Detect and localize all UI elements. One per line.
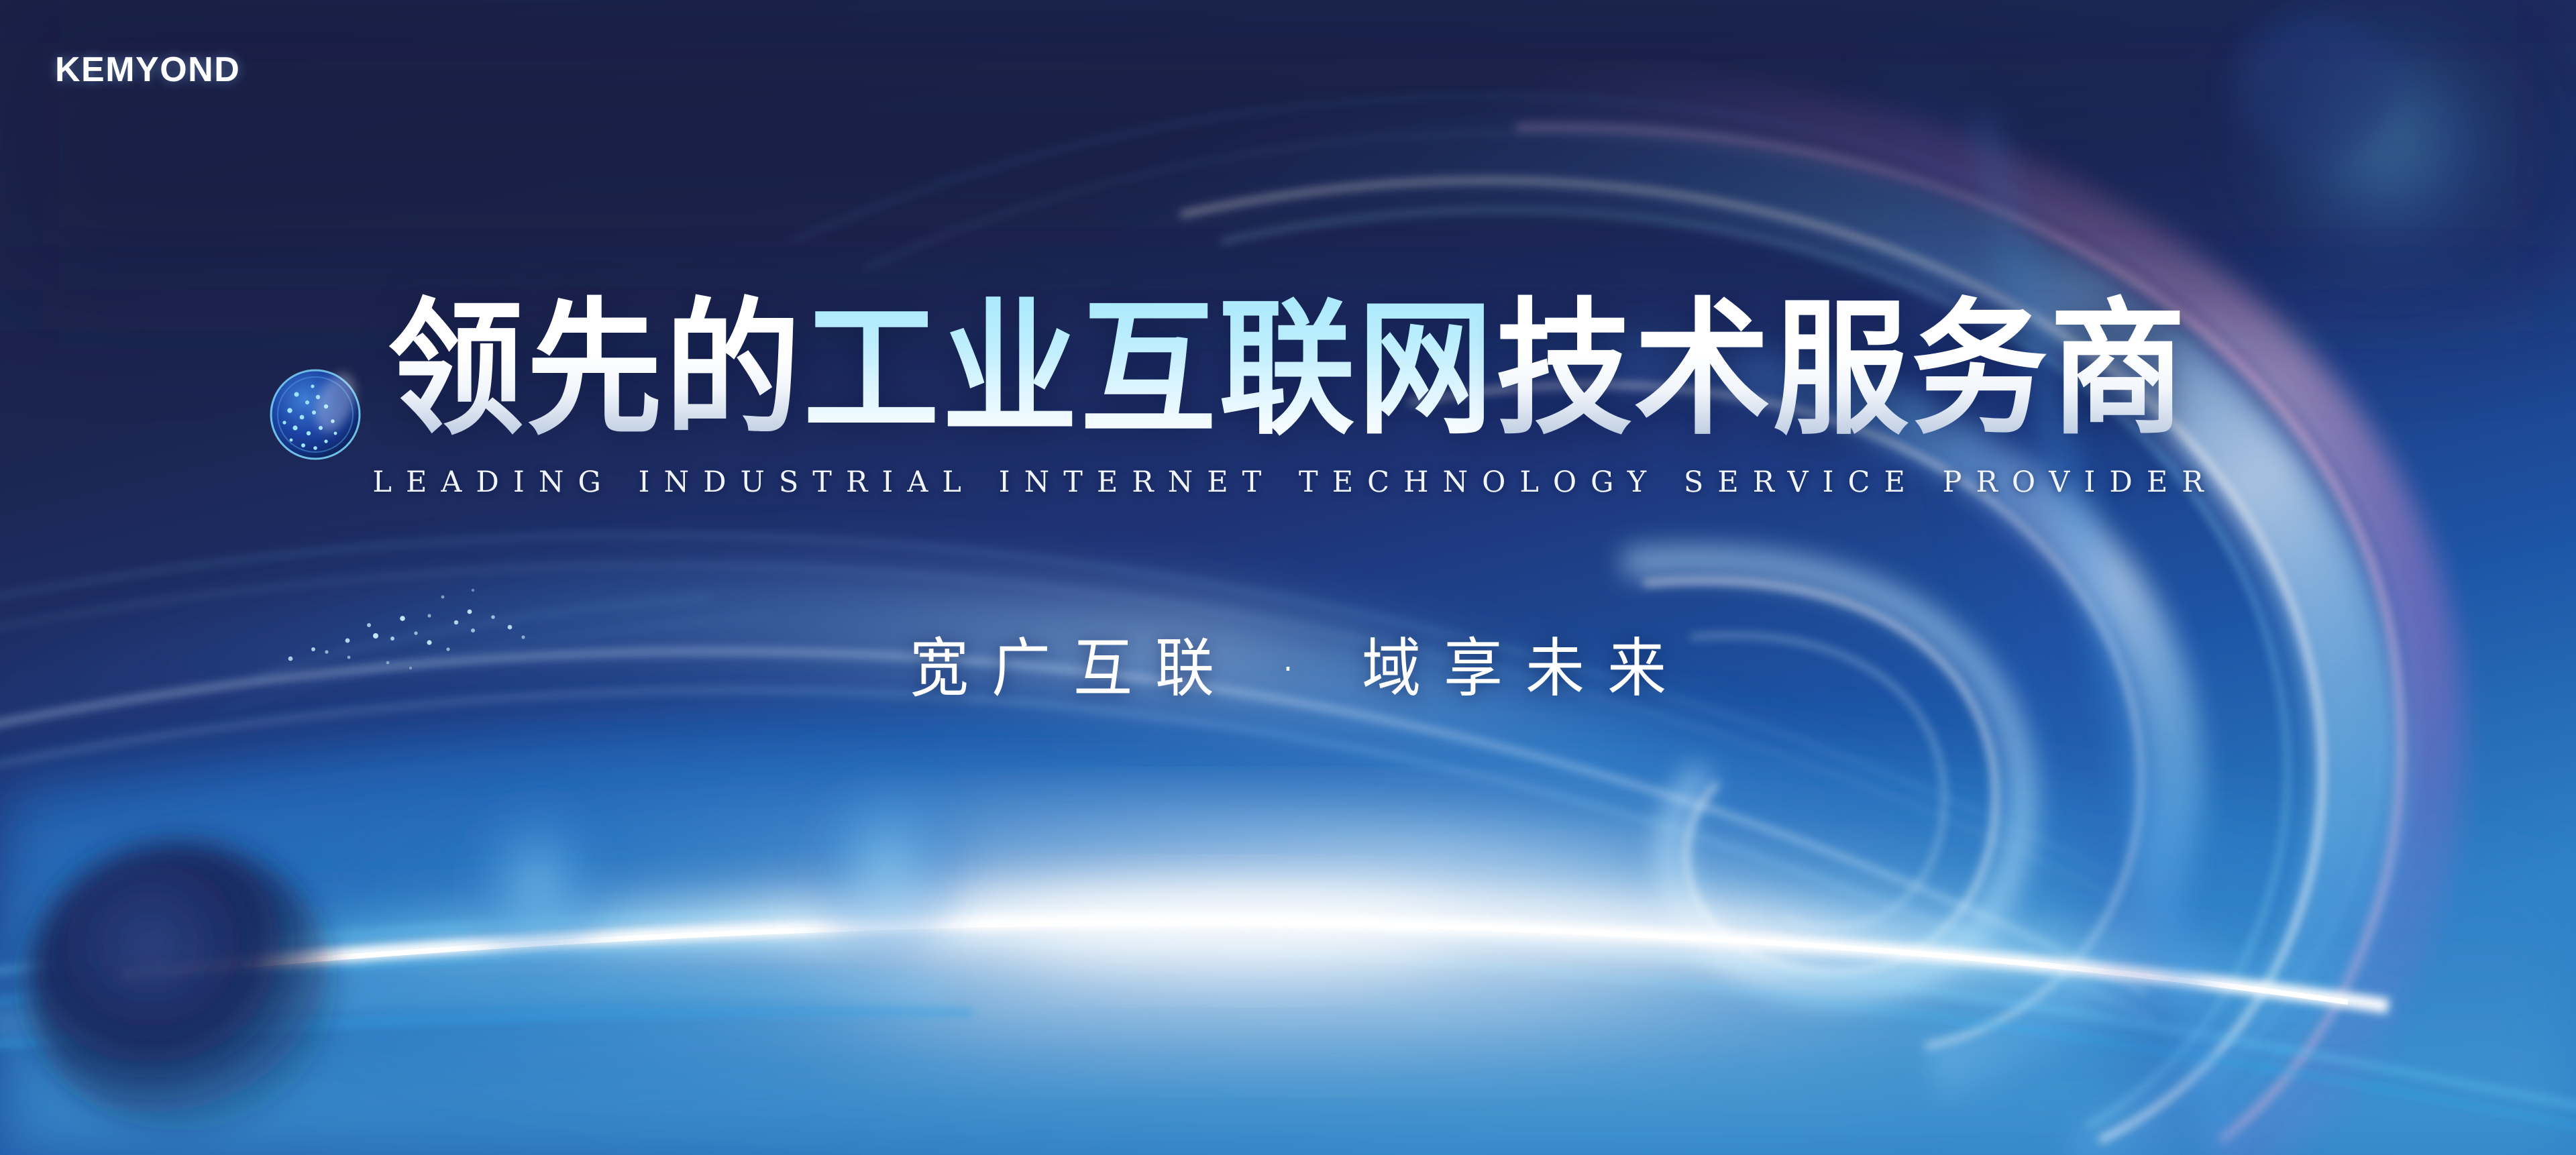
page-title: 领先的工业互联网技术服务商 <box>90 290 2485 451</box>
headline-segment-2: 工业互联网 <box>803 290 1495 451</box>
brand-logo[interactable]: KEMYOND <box>55 50 240 90</box>
content-layer: KEMYOND 领先的工业互联网技术服务商 LEADING INDUSTRIAL… <box>0 0 2576 1155</box>
english-subtitle: LEADING INDUSTRIAL INTERNET TECHNOLOGY S… <box>0 465 2576 499</box>
headline-segment-3: 技术服务商 <box>1496 290 2188 451</box>
headline-segment-1: 领先的 <box>388 290 803 451</box>
banner-canvas: KEMYOND 领先的工业互联网技术服务商 LEADING INDUSTRIAL… <box>0 0 2576 1155</box>
slogan-tagline: 宽广互联 · 域享未来 <box>0 617 2576 709</box>
